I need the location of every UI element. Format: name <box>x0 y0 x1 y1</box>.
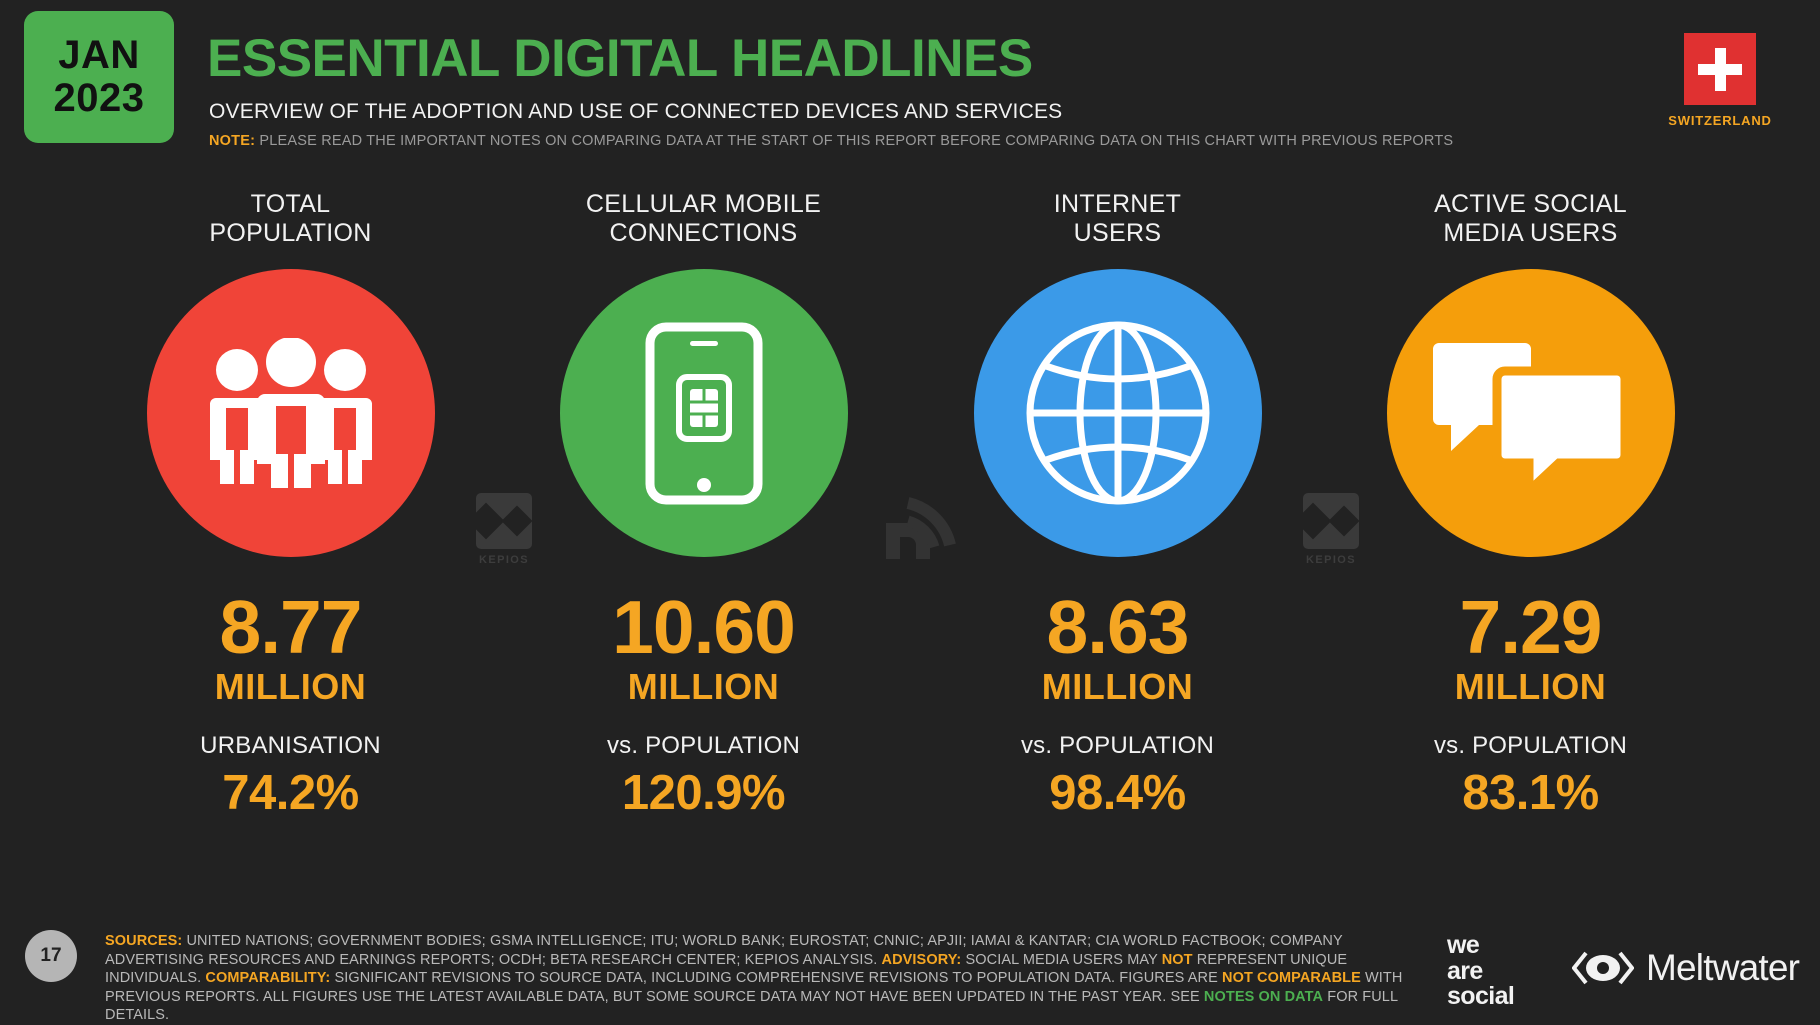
metric-sub-label: vs. POPULATION <box>476 732 931 760</box>
metrics-row: TOTAL POPULATION 8.77 MILLION URBANISATI… <box>0 190 1820 890</box>
kepios-watermark: KEPIOS <box>463 493 545 566</box>
metric-column-internet-users: INTERNET USERS 8.63 MILLION vs. POPULATI… <box>890 190 1345 820</box>
globe-icon <box>1023 318 1213 508</box>
date-badge: JAN 2023 <box>24 11 174 143</box>
kepios-watermark-label: KEPIOS <box>463 554 545 566</box>
metric-heading-line1: ACTIVE SOCIAL <box>1303 190 1758 219</box>
metric-heading-line1: TOTAL <box>63 190 518 219</box>
metric-column-total-population: TOTAL POPULATION 8.77 MILLION URBANISATI… <box>63 190 518 820</box>
metric-heading: CELLULAR MOBILE CONNECTIONS <box>476 190 931 252</box>
metric-heading-line2: MEDIA USERS <box>1303 219 1758 248</box>
metric-unit: MILLION <box>890 667 1345 707</box>
we-are-social-logo: we are social <box>1447 933 1514 1010</box>
page-title: ESSENTIAL DIGITAL HEADLINES <box>207 31 1033 87</box>
metric-sub-label: URBANISATION <box>63 732 518 760</box>
meltwater-eye-icon <box>1572 951 1634 985</box>
comparability-body-1: SIGNIFICANT REVISIONS TO SOURCE DATA, IN… <box>330 970 1222 986</box>
sources-keyword: SOURCES: <box>105 933 182 949</box>
metric-icon-circle <box>147 269 435 557</box>
comparability-not-comparable: NOT COMPARABLE <box>1222 970 1361 986</box>
metric-heading: INTERNET USERS <box>890 190 1345 252</box>
kepios-watermark-label: KEPIOS <box>1290 554 1372 566</box>
speech-bubbles-icon <box>1431 333 1631 493</box>
country-name: SWITZERLAND <box>1660 113 1780 128</box>
metric-unit: MILLION <box>1303 667 1758 707</box>
metric-sub-value: 74.2% <box>63 766 518 820</box>
kepios-logo-icon <box>476 493 532 549</box>
datareportal-logo-icon <box>878 495 958 567</box>
we-are-social-line2: are <box>1447 959 1514 985</box>
page-subtitle: OVERVIEW OF THE ADOPTION AND USE OF CONN… <box>209 100 1062 124</box>
metric-heading-line1: CELLULAR MOBILE <box>476 190 931 219</box>
note-text: PLEASE READ THE IMPORTANT NOTES ON COMPA… <box>259 133 1453 149</box>
note-keyword: NOTE: <box>209 133 255 149</box>
metric-heading-line1: INTERNET <box>890 190 1345 219</box>
metric-value: 10.60 <box>476 587 931 667</box>
metric-icon-circle <box>1387 269 1675 557</box>
date-year: 2023 <box>54 76 145 120</box>
comparability-keyword: COMPARABILITY: <box>205 970 330 986</box>
meltwater-wordmark: Meltwater <box>1646 948 1799 988</box>
metric-icon-circle <box>974 269 1262 557</box>
datareportal-watermark <box>878 495 958 567</box>
metric-sub-value: 83.1% <box>1303 766 1758 820</box>
metric-value: 8.63 <box>890 587 1345 667</box>
advisory-keyword: ADVISORY: <box>882 952 962 968</box>
kepios-watermark: KEPIOS <box>1290 493 1372 566</box>
header-note: NOTE: PLEASE READ THE IMPORTANT NOTES ON… <box>209 133 1453 150</box>
metric-unit: MILLION <box>476 667 931 707</box>
we-are-social-line3: social <box>1447 984 1514 1010</box>
metric-heading-line2: POPULATION <box>63 219 518 248</box>
metric-heading: TOTAL POPULATION <box>63 190 518 252</box>
metric-heading: ACTIVE SOCIAL MEDIA USERS <box>1303 190 1758 252</box>
metric-sub-value: 98.4% <box>890 766 1345 820</box>
country-flag-block: SWITZERLAND <box>1660 33 1780 128</box>
metric-value: 7.29 <box>1303 587 1758 667</box>
meltwater-logo: Meltwater <box>1572 948 1799 988</box>
advisory-body-1: SOCIAL MEDIA USERS MAY <box>961 952 1161 968</box>
kepios-logo-icon <box>1303 493 1359 549</box>
metric-sub-label: vs. POPULATION <box>1303 732 1758 760</box>
we-are-social-line1: we <box>1447 933 1514 959</box>
metric-unit: MILLION <box>63 667 518 707</box>
flag-cross-vertical <box>1715 48 1726 91</box>
metric-sub-value: 120.9% <box>476 766 931 820</box>
page-number-badge: 17 <box>25 930 77 982</box>
advisory-not: NOT <box>1162 952 1193 968</box>
date-month: JAN <box>58 34 140 76</box>
metric-value: 8.77 <box>63 587 518 667</box>
brand-logos: we are social Meltwater <box>1447 923 1807 1007</box>
smartphone-sim-icon <box>644 321 764 506</box>
page-header: JAN 2023 ESSENTIAL DIGITAL HEADLINES OVE… <box>0 0 1820 160</box>
metric-sub-label: vs. POPULATION <box>890 732 1345 760</box>
switzerland-flag-icon <box>1684 33 1756 105</box>
page-footer: 17 SOURCES: UNITED NATIONS; GOVERNMENT B… <box>0 905 1820 1024</box>
metric-heading-line2: CONNECTIONS <box>476 219 931 248</box>
sources-text: SOURCES: UNITED NATIONS; GOVERNMENT BODI… <box>105 932 1425 1025</box>
metric-heading-line2: USERS <box>890 219 1345 248</box>
people-icon <box>201 338 381 488</box>
notes-on-data-link[interactable]: NOTES ON DATA <box>1204 989 1323 1005</box>
metric-icon-circle <box>560 269 848 557</box>
